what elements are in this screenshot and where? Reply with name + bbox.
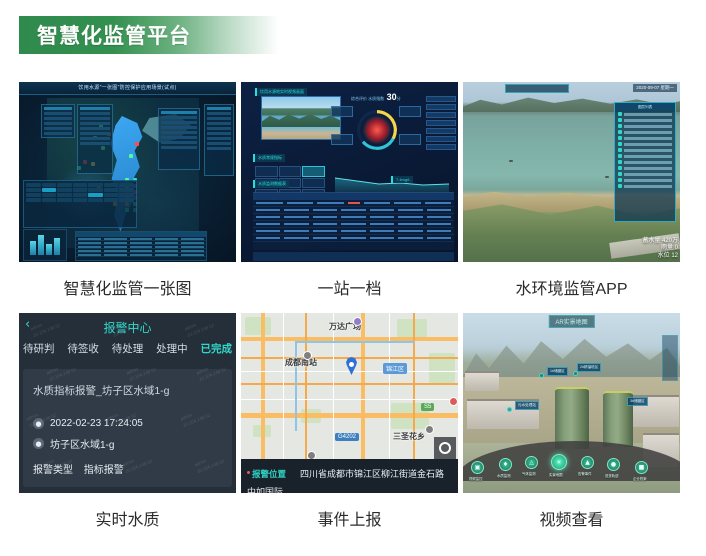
ar-anchor-node[interactable] [573, 371, 578, 376]
report-location-label: 报警位置 [252, 468, 286, 480]
gallery-cell-alarm: ‹ 报警中心 待研判 待签收 待处理 处理中 已完成 水质指标报警_坊子区水域1… [19, 313, 236, 535]
dock-label-video: 视频监控 [469, 476, 483, 481]
map-street [241, 371, 458, 372]
gallery-row-2: ‹ 报警中心 待研判 待签收 待处理 处理中 已完成 水质指标报警_坊子区水域1… [19, 313, 681, 535]
ar-title: AR实景地图 [548, 315, 594, 328]
map-poi[interactable] [303, 351, 312, 360]
header-banner: 智慧化监管平台 [19, 16, 279, 54]
checkbox-icon[interactable] [618, 118, 622, 122]
checkbox-icon[interactable] [618, 136, 622, 140]
gis-marker-ok[interactable] [129, 154, 133, 158]
map-poi[interactable] [425, 425, 434, 434]
map-park [245, 317, 271, 335]
gis-far-panel [204, 104, 234, 176]
layer-panel-title: 图层列表 [615, 103, 675, 111]
route-icon[interactable]: ● [607, 458, 620, 471]
app-info-readout: 蓄水量 420万 雨量 0 水位 12 [642, 238, 678, 261]
station-score-label: 综合评价 水质指数 [351, 96, 384, 101]
locate-icon[interactable] [434, 437, 456, 459]
info-line-rainfall: 雨量 0 [642, 245, 678, 253]
ar-dock: ▣ 视频监控 ♦ 水质监测 △ 气体监测 ☀ 实景地图 ▲ 告警事件 ● 巡查轨… [467, 455, 667, 483]
table-row[interactable] [253, 221, 454, 228]
thumbnail-mobile-alarm[interactable]: ‹ 报警中心 待研判 待签收 待处理 处理中 已完成 水质指标报警_坊子区水域1… [19, 313, 236, 493]
tab-pending-review[interactable]: 待研判 [23, 341, 55, 356]
caption-alarm: 实时水质 [19, 493, 236, 535]
gis-side-buttons[interactable] [158, 108, 200, 170]
station-side-list[interactable] [426, 96, 456, 152]
section-title-table: 水质监测数据表 [253, 180, 289, 188]
ar-tag-tank1[interactable]: 1#储罐区 [547, 367, 568, 376]
station-score: 综合评价 水质指数 30分 [351, 92, 401, 102]
map-road-minor [305, 313, 307, 459]
station-photo-title: 饮用水源地实时视频画面 [255, 88, 307, 96]
map-badge-s5: S5 [421, 403, 434, 411]
map-label-sansheng: 三圣花乡 [393, 431, 425, 442]
globe-icon[interactable]: ☀ [551, 454, 567, 470]
map-river [295, 341, 415, 343]
gauge-stat-box [399, 106, 421, 117]
checkbox-icon[interactable] [618, 124, 622, 128]
param-cell [302, 166, 325, 177]
ar-anchor-node[interactable] [507, 407, 512, 412]
alarm-location-row: ● 坊子区水域1-g [33, 436, 222, 451]
map-street [389, 313, 390, 459]
map-badge-g4202: G4202 [335, 433, 359, 441]
gallery-row-1: 饮用水源"一张图"防控保护应用场景(试点) [19, 82, 681, 304]
ar-storage-tank[interactable] [555, 387, 589, 449]
map-poi[interactable] [449, 397, 458, 406]
alarm-tab-bar: 待研判 待签收 待处理 处理中 已完成 [19, 341, 236, 356]
checkbox-icon[interactable] [618, 184, 622, 188]
gauge-stat-box [331, 134, 353, 145]
table-row[interactable] [76, 253, 206, 257]
dock-label-archive: 企业档案 [633, 476, 647, 481]
gauge-stat-box [399, 134, 421, 145]
tab-pending-signoff[interactable]: 待签收 [67, 341, 99, 356]
caption-station-file: 一站一档 [241, 262, 458, 304]
table-row[interactable] [253, 207, 454, 214]
app-top-bar [505, 84, 569, 93]
map-street [283, 313, 284, 459]
trend-marker: 7.4mg/L [391, 176, 413, 183]
gis-calendar-left[interactable] [24, 181, 136, 204]
alarm-time: 2022-02-23 17:24:05 [50, 418, 143, 429]
map-poi[interactable] [353, 317, 362, 326]
gis-title-bar: 饮用水源"一张图"防控保护应用场景(试点) [19, 82, 236, 95]
param-cell [302, 178, 325, 189]
dock-label-ar-map: 实景地图 [549, 472, 563, 477]
gis-stats-panel [77, 104, 113, 174]
info-line-storage: 蓄水量 420万 [642, 238, 678, 246]
caption-map-report: 事件上报 [241, 493, 458, 535]
station-data-table[interactable] [253, 192, 454, 250]
map-street [333, 313, 334, 459]
checkbox-icon[interactable] [618, 154, 622, 158]
station-gauge [357, 110, 397, 150]
param-cell [255, 166, 278, 177]
dock-label-gas: 气体监测 [522, 471, 536, 476]
alarm-type-label: 报警类型 [33, 465, 73, 476]
gas-icon[interactable]: △ [525, 456, 538, 469]
caption-app: 水环境监管APP [463, 262, 680, 304]
station-table-footer[interactable] [253, 252, 454, 261]
gauge-core [366, 119, 388, 141]
checkbox-icon[interactable] [618, 130, 622, 134]
drop-icon[interactable]: ♦ [499, 458, 512, 471]
checkbox-icon[interactable] [618, 142, 622, 146]
checkbox-icon[interactable] [618, 160, 622, 164]
tab-in-progress[interactable]: 处理中 [156, 341, 188, 356]
param-cell [279, 166, 302, 177]
station-score-value: 30 [387, 92, 397, 102]
alarm-nav-title: 报警中心 [19, 319, 236, 336]
app-layer-panel[interactable]: 图层列表 [614, 102, 676, 222]
station-live-photo[interactable] [261, 96, 341, 140]
thumbnail-drone-photo[interactable]: 2020-09-07 星期一 图层列表 [463, 82, 680, 262]
gallery-grid: 饮用水源"一张图"防控保护应用场景(试点) [19, 82, 681, 535]
alarm-type-value: 指标报警 [84, 465, 124, 476]
station-score-unit: 分 [397, 96, 401, 101]
layer-item[interactable] [615, 183, 675, 189]
gis-bar-chart [23, 229, 67, 261]
checkbox-icon[interactable] [618, 172, 622, 176]
clock-icon: ● [33, 418, 44, 429]
map-road-major [261, 313, 265, 459]
thumbnail-station-file[interactable]: 饮用水源地实时视频画面 综合评价 水质指数 30分 [241, 82, 458, 262]
file-icon[interactable]: ■ [635, 461, 648, 474]
alarm-title: 水质指标报警_坊子区水域1-g [33, 383, 222, 398]
map-road-minor [241, 383, 458, 385]
gallery-cell-map-report: 万达广场 成都南站 三圣花乡 锦江区 S5 G4202 [241, 313, 458, 535]
alarm-location: 坊子区水域1-g [50, 436, 114, 451]
gallery-cell-station-file: 饮用水源地实时视频画面 综合评价 水质指数 30分 [241, 82, 458, 304]
alert-icon[interactable]: ▲ [581, 456, 594, 469]
checkbox-icon[interactable] [618, 178, 622, 182]
table-row[interactable] [253, 200, 454, 207]
photo-boat [605, 176, 609, 178]
dock-label-water: 水质监测 [497, 473, 511, 478]
alarm-meta: ● 2022-02-23 17:24:05 ● 坊子区水域1-g [33, 418, 222, 451]
table-row[interactable] [253, 214, 454, 221]
map-road-major [361, 313, 365, 459]
caption-gis: 智慧化监管一张图 [19, 262, 236, 304]
checkbox-icon[interactable] [618, 112, 622, 116]
map-label-station: 成都南站 [285, 357, 317, 368]
ar-side-panel[interactable] [662, 335, 678, 381]
gis-screen-title: 饮用水源"一张图"防控保护应用场景(试点) [78, 84, 176, 91]
ar-tag-column[interactable]: 2#精馏塔区 [577, 363, 601, 372]
alarm-time-row: ● 2022-02-23 17:24:05 [33, 418, 222, 429]
dock-label-route: 巡查轨迹 [605, 473, 619, 478]
thumbnail-gis-dashboard[interactable]: 饮用水源"一张图"防控保护应用场景(试点) [19, 82, 236, 262]
thumbnail-map-report[interactable]: 万达广场 成都南站 三圣花乡 锦江区 S5 G4202 [241, 313, 458, 493]
gallery-cell-app: 2020-09-07 星期一 图层列表 [463, 82, 680, 304]
alarm-card[interactable]: 水质指标报警_坊子区水域1-g ● 2022-02-23 17:24:05 ● … [23, 369, 232, 487]
report-footer: 报警位置四川省成都市锦江区柳江街道金石路中如国际 [241, 459, 458, 493]
caption-ar-video: 视频查看 [463, 493, 680, 535]
ar-tag-tank3[interactable]: 3#储罐区 [627, 397, 648, 406]
page-title: 智慧化监管平台 [19, 20, 191, 50]
map-street [241, 399, 458, 400]
gis-marker-alert[interactable] [135, 142, 139, 146]
alarm-type-row: 报警类型 指标报警 [33, 461, 222, 476]
section-title-params: 水质常规指标 [253, 154, 285, 162]
gis-data-table[interactable] [75, 231, 207, 261]
gis-date-picker[interactable] [23, 180, 137, 228]
ar-tag-wastewater[interactable]: 污水处理站 [515, 401, 539, 410]
photo-boat [509, 160, 513, 162]
table-row[interactable] [253, 235, 454, 242]
ar-building [465, 371, 499, 391]
table-row[interactable] [253, 228, 454, 235]
map-pin-icon: ● [33, 438, 44, 449]
map-road-major [241, 413, 458, 418]
app-timestamp: 2020-09-07 星期一 [633, 84, 677, 92]
checkbox-icon[interactable] [618, 166, 622, 170]
dock-label-alerts: 告警事件 [578, 471, 592, 476]
info-line-level: 水位 12 [642, 253, 678, 261]
gis-legend [125, 178, 205, 214]
gallery-cell-ar-video: AR实景地图 1#储罐区 2#精馏塔区 污水处理站 3#储罐区 ▣ 视频监控 ♦… [463, 313, 680, 535]
gis-kpi-panel [41, 104, 75, 138]
gauge-stat-box [331, 106, 353, 117]
tab-completed[interactable]: 已完成 [201, 341, 233, 356]
tab-pending-handle[interactable]: 待处理 [112, 341, 144, 356]
thumbnail-ar-video[interactable]: AR实景地图 1#储罐区 2#精馏塔区 污水处理站 3#储罐区 ▣ 视频监控 ♦… [463, 313, 680, 493]
video-icon[interactable]: ▣ [471, 461, 484, 474]
page-root: 智慧化监管平台 饮用水源"一张图"防控保护应用场景(试点) [0, 0, 706, 556]
map-river [295, 341, 297, 431]
photo-mountain [262, 113, 340, 127]
table-header [253, 193, 454, 200]
ar-anchor-node[interactable] [539, 373, 544, 378]
checkbox-icon[interactable] [618, 148, 622, 152]
gallery-cell-gis: 饮用水源"一张图"防控保护应用场景(试点) [19, 82, 236, 304]
status-dot [247, 471, 250, 474]
map-badge-district: 锦江区 [383, 363, 407, 374]
alarm-nav-bar: ‹ 报警中心 [19, 313, 236, 339]
